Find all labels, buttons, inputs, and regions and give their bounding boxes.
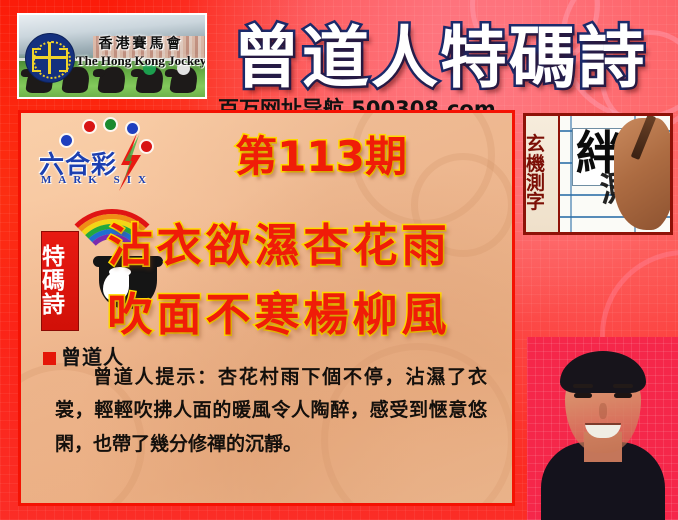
content-panel: 六合彩 MARK SIX 特碼詩 曾道人 第113期 沾衣欲濕杏花雨 吹面不寒楊… <box>18 110 515 506</box>
xuanji-character-divination-box: 玄機測字 絆 測 <box>523 113 673 235</box>
tip-text: 曾道人提示：杏花村雨下個不停，沾濕了衣裳，輕輕吹拂人面的暖風令人陶醉，感受到愜意… <box>55 361 487 461</box>
author-portrait-photo <box>527 337 678 520</box>
poem-line-2: 吹面不寒楊柳風 <box>49 278 509 343</box>
hkjc-name-block: 香港賽馬會 The Hong Kong Jockey Club <box>76 37 206 67</box>
writing-paper: 絆 測 <box>560 116 670 232</box>
hkjc-name-en: The Hong Kong Jockey Club <box>76 54 206 67</box>
poem-line-1: 沾衣欲濕杏花雨 <box>49 209 509 274</box>
issue-number: 第113期 <box>141 123 501 184</box>
racehorse-icon <box>97 67 127 93</box>
hong-kong-jockey-club-banner: 香港賽馬會 The Hong Kong Jockey Club <box>17 13 207 99</box>
lottery-ball-icon <box>84 121 95 132</box>
hkjc-name-cn: 香港賽馬會 <box>76 37 206 51</box>
page-title: 曾道人特碼詩 <box>205 8 675 96</box>
poster-root: 香港賽馬會 The Hong Kong Jockey Club 曾道人特碼詩 百… <box>0 0 678 520</box>
mark-six-name-en: MARK SIX <box>41 174 153 186</box>
lottery-ball-icon <box>105 119 116 130</box>
hkjc-emblem-icon <box>25 33 75 83</box>
xuanji-label: 玄機測字 <box>526 116 560 232</box>
